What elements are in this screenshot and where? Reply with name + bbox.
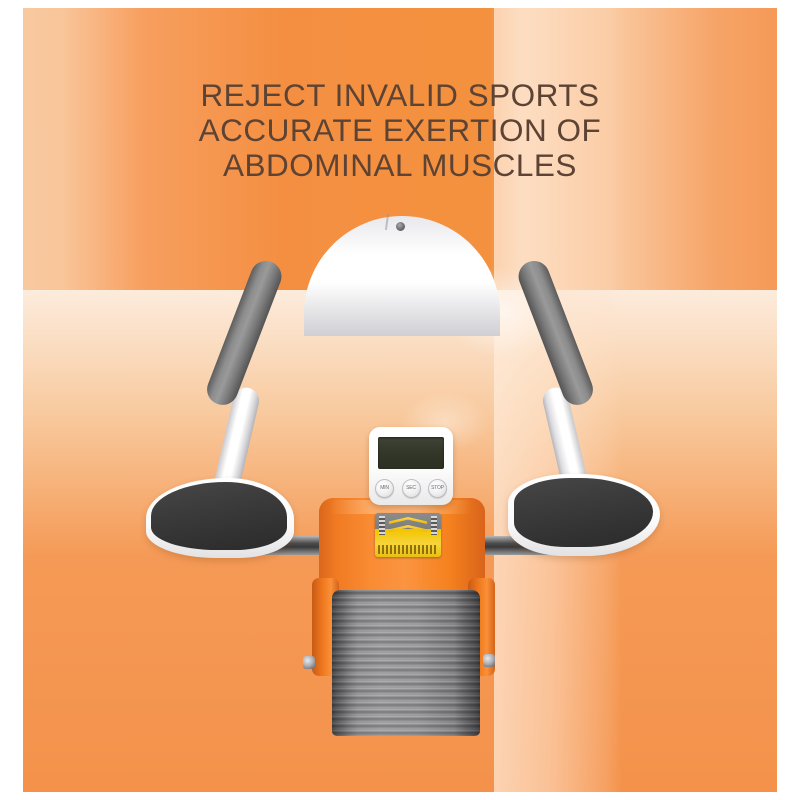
elbow-pad-left xyxy=(146,478,294,558)
warning-label-bars-right xyxy=(431,516,437,535)
digital-timer[interactable]: MIN SEC STOP xyxy=(369,427,453,505)
product-image-canvas: REJECT INVALID SPORTS ACCURATE EXERTION … xyxy=(0,0,800,800)
wheel-shadow-right xyxy=(454,590,480,736)
arch-top-bar xyxy=(304,216,500,336)
warning-label-bars-left xyxy=(379,516,385,535)
arch-screw-icon xyxy=(396,222,405,231)
chevron-arrows-icon xyxy=(389,517,427,535)
warning-label-caption xyxy=(378,545,438,554)
timer-lcd-screen xyxy=(378,437,444,469)
product-illustration: MIN SEC STOP xyxy=(0,0,800,800)
sec-button[interactable]: SEC xyxy=(402,479,421,498)
min-button[interactable]: MIN xyxy=(375,479,394,498)
stop-button[interactable]: STOP xyxy=(428,479,447,498)
elbow-pad-right-cushion xyxy=(514,478,653,547)
timer-button-row: MIN SEC STOP xyxy=(375,477,447,499)
axle-bolt-right xyxy=(483,654,495,667)
warning-label xyxy=(375,513,441,557)
elbow-pad-left-cushion xyxy=(151,482,287,550)
wheel-shadow-left xyxy=(332,590,358,736)
roller-wheel xyxy=(332,590,480,736)
axle-bolt-left xyxy=(303,656,315,669)
elbow-pad-right xyxy=(508,474,660,556)
